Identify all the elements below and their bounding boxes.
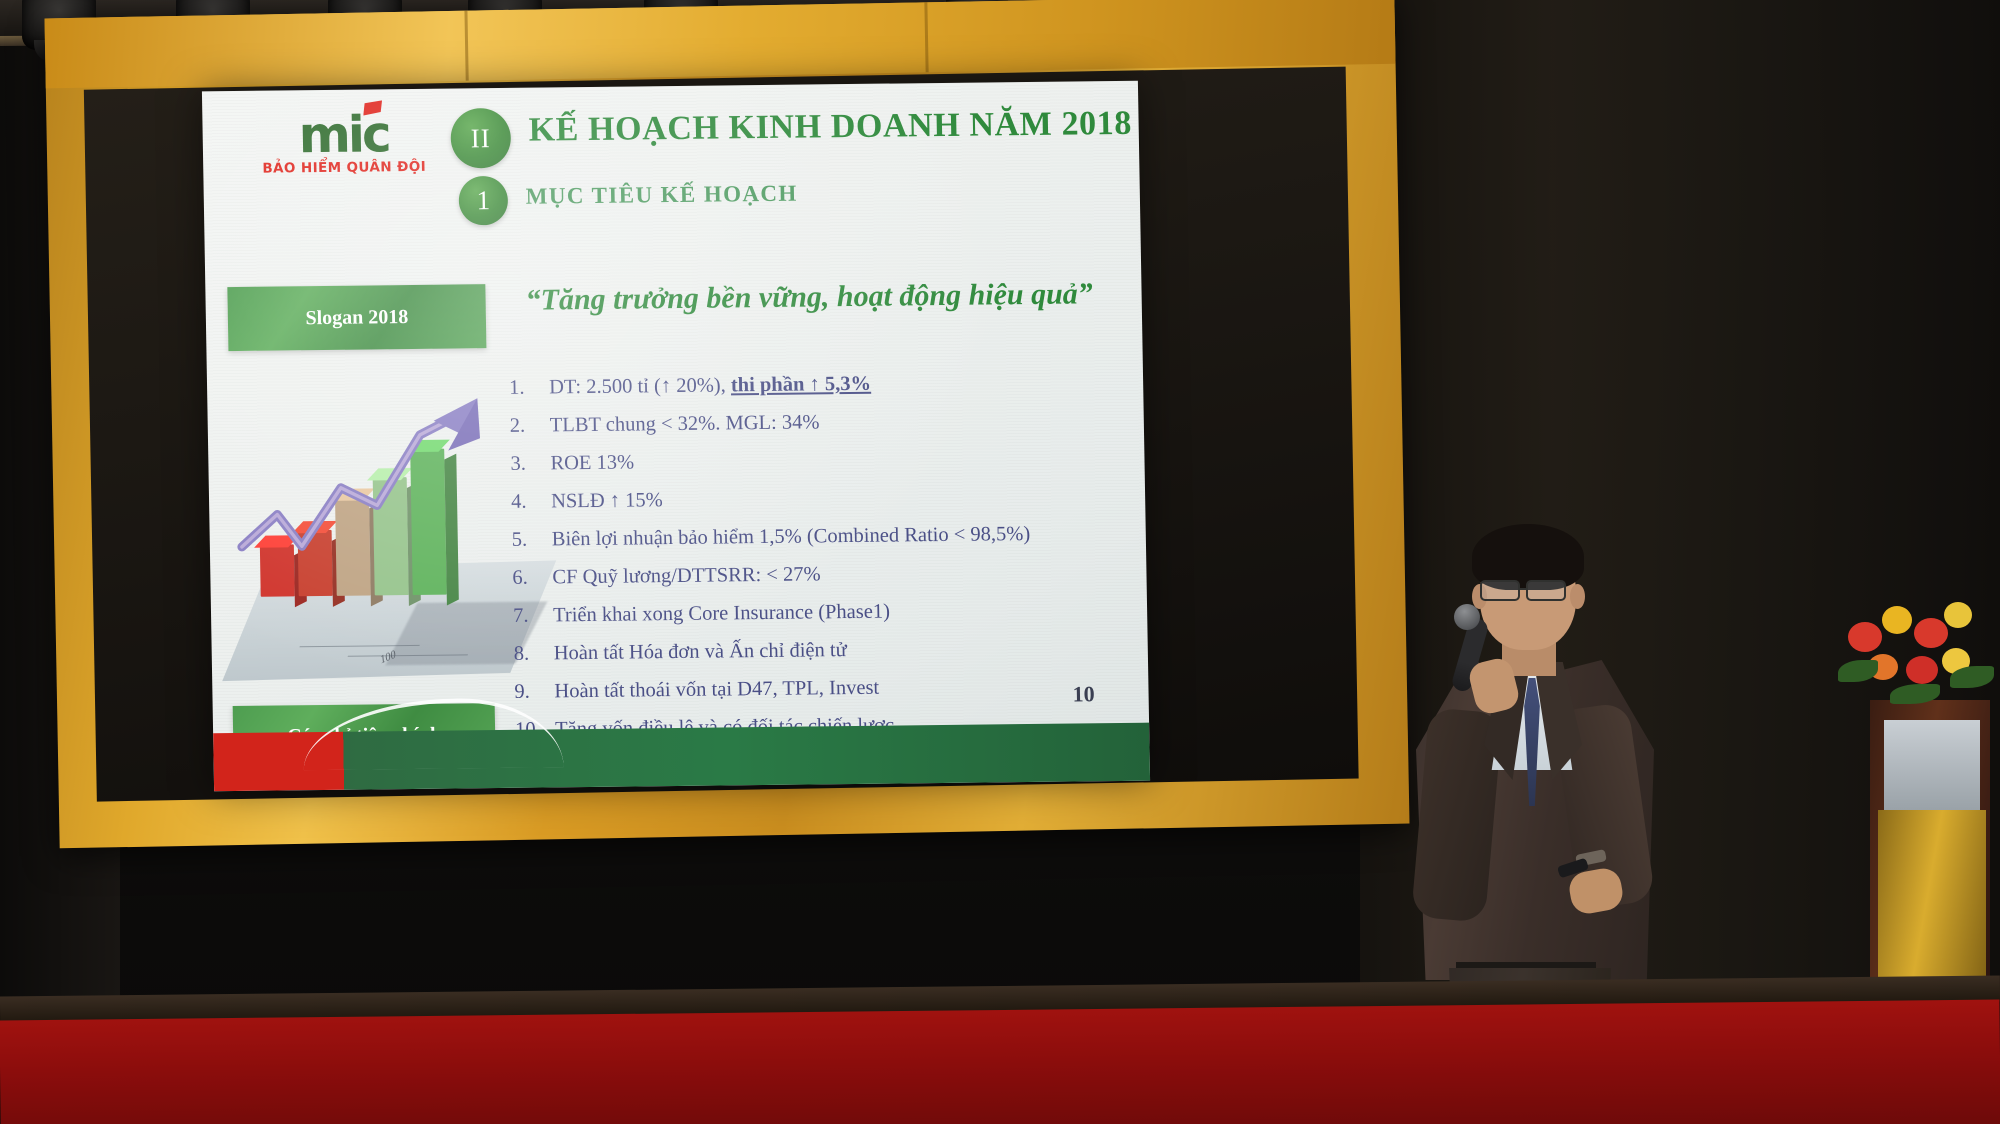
kpi-bullet-list: 1. DT: 2.500 tỉ (↑ 20%), thi phần ↑ 5,3%… <box>505 371 1150 758</box>
growth-arrow-icon <box>233 394 502 577</box>
eyeglasses-icon <box>1480 580 1520 601</box>
ear <box>1570 584 1585 609</box>
list-item: 9. Hoàn tất thoái vốn tại D47, TPL, Inve… <box>510 675 1150 703</box>
red-carpet <box>0 1000 2000 1124</box>
page-number: 10 <box>1072 681 1094 707</box>
list-item: 1. DT: 2.500 tỉ (↑ 20%), thi phần ↑ 5,3% <box>505 371 1145 399</box>
projected-slide: mic BẢO HIỂM QUÂN ĐỘI II KẾ HOẠCH KINH D… <box>202 81 1150 792</box>
podium-plate <box>1884 720 1980 810</box>
stage-scene: mic BẢO HIỂM QUÂN ĐỘI II KẾ HOẠCH KINH D… <box>0 0 2000 1124</box>
slide-footer-bar <box>213 723 1150 792</box>
list-item: 7. Triển khai xong Core Insurance (Phase… <box>509 599 1149 627</box>
eyeglasses-icon <box>1526 580 1566 601</box>
list-item: 6. CF Quỹ lương/DTTSRR: < 27% <box>508 561 1148 589</box>
flower-arrangement <box>1838 600 2000 730</box>
list-item: 5. Biên lợi nhuận bảo hiểm 1,5% (Combine… <box>508 523 1148 551</box>
slide-subtitle: MỤC TIÊU KẾ HOẠCH <box>526 181 798 210</box>
section-badge-ii: II <box>450 108 511 169</box>
slide-title: KẾ HOẠCH KINH DOANH NĂM 2018 <box>528 105 1132 150</box>
bar-chart-artwork: 100 <box>217 388 512 701</box>
list-item: 4. NSLĐ ↑ 15% <box>507 485 1147 513</box>
logo-wordmark: mic <box>298 111 389 158</box>
list-item: 8. Hoàn tất Hóa đơn và Ấn chỉ điện tử <box>510 637 1150 665</box>
list-item: 3. ROE 13% <box>506 447 1146 475</box>
mic-logo: mic BẢO HIỂM QUÂN ĐỘI <box>254 111 433 177</box>
list-item: 2. TLBT chung < 32%. MGL: 34% <box>506 409 1146 437</box>
logo-text: mic <box>298 105 389 164</box>
slogan-label-box: Slogan 2018 <box>227 284 486 351</box>
eyeglasses-bridge <box>1520 588 1528 590</box>
slogan-quote: “Tăng trưởng bền vững, hoạt động hiệu qu… <box>525 277 1116 318</box>
subsection-badge-1: 1 <box>458 176 508 226</box>
